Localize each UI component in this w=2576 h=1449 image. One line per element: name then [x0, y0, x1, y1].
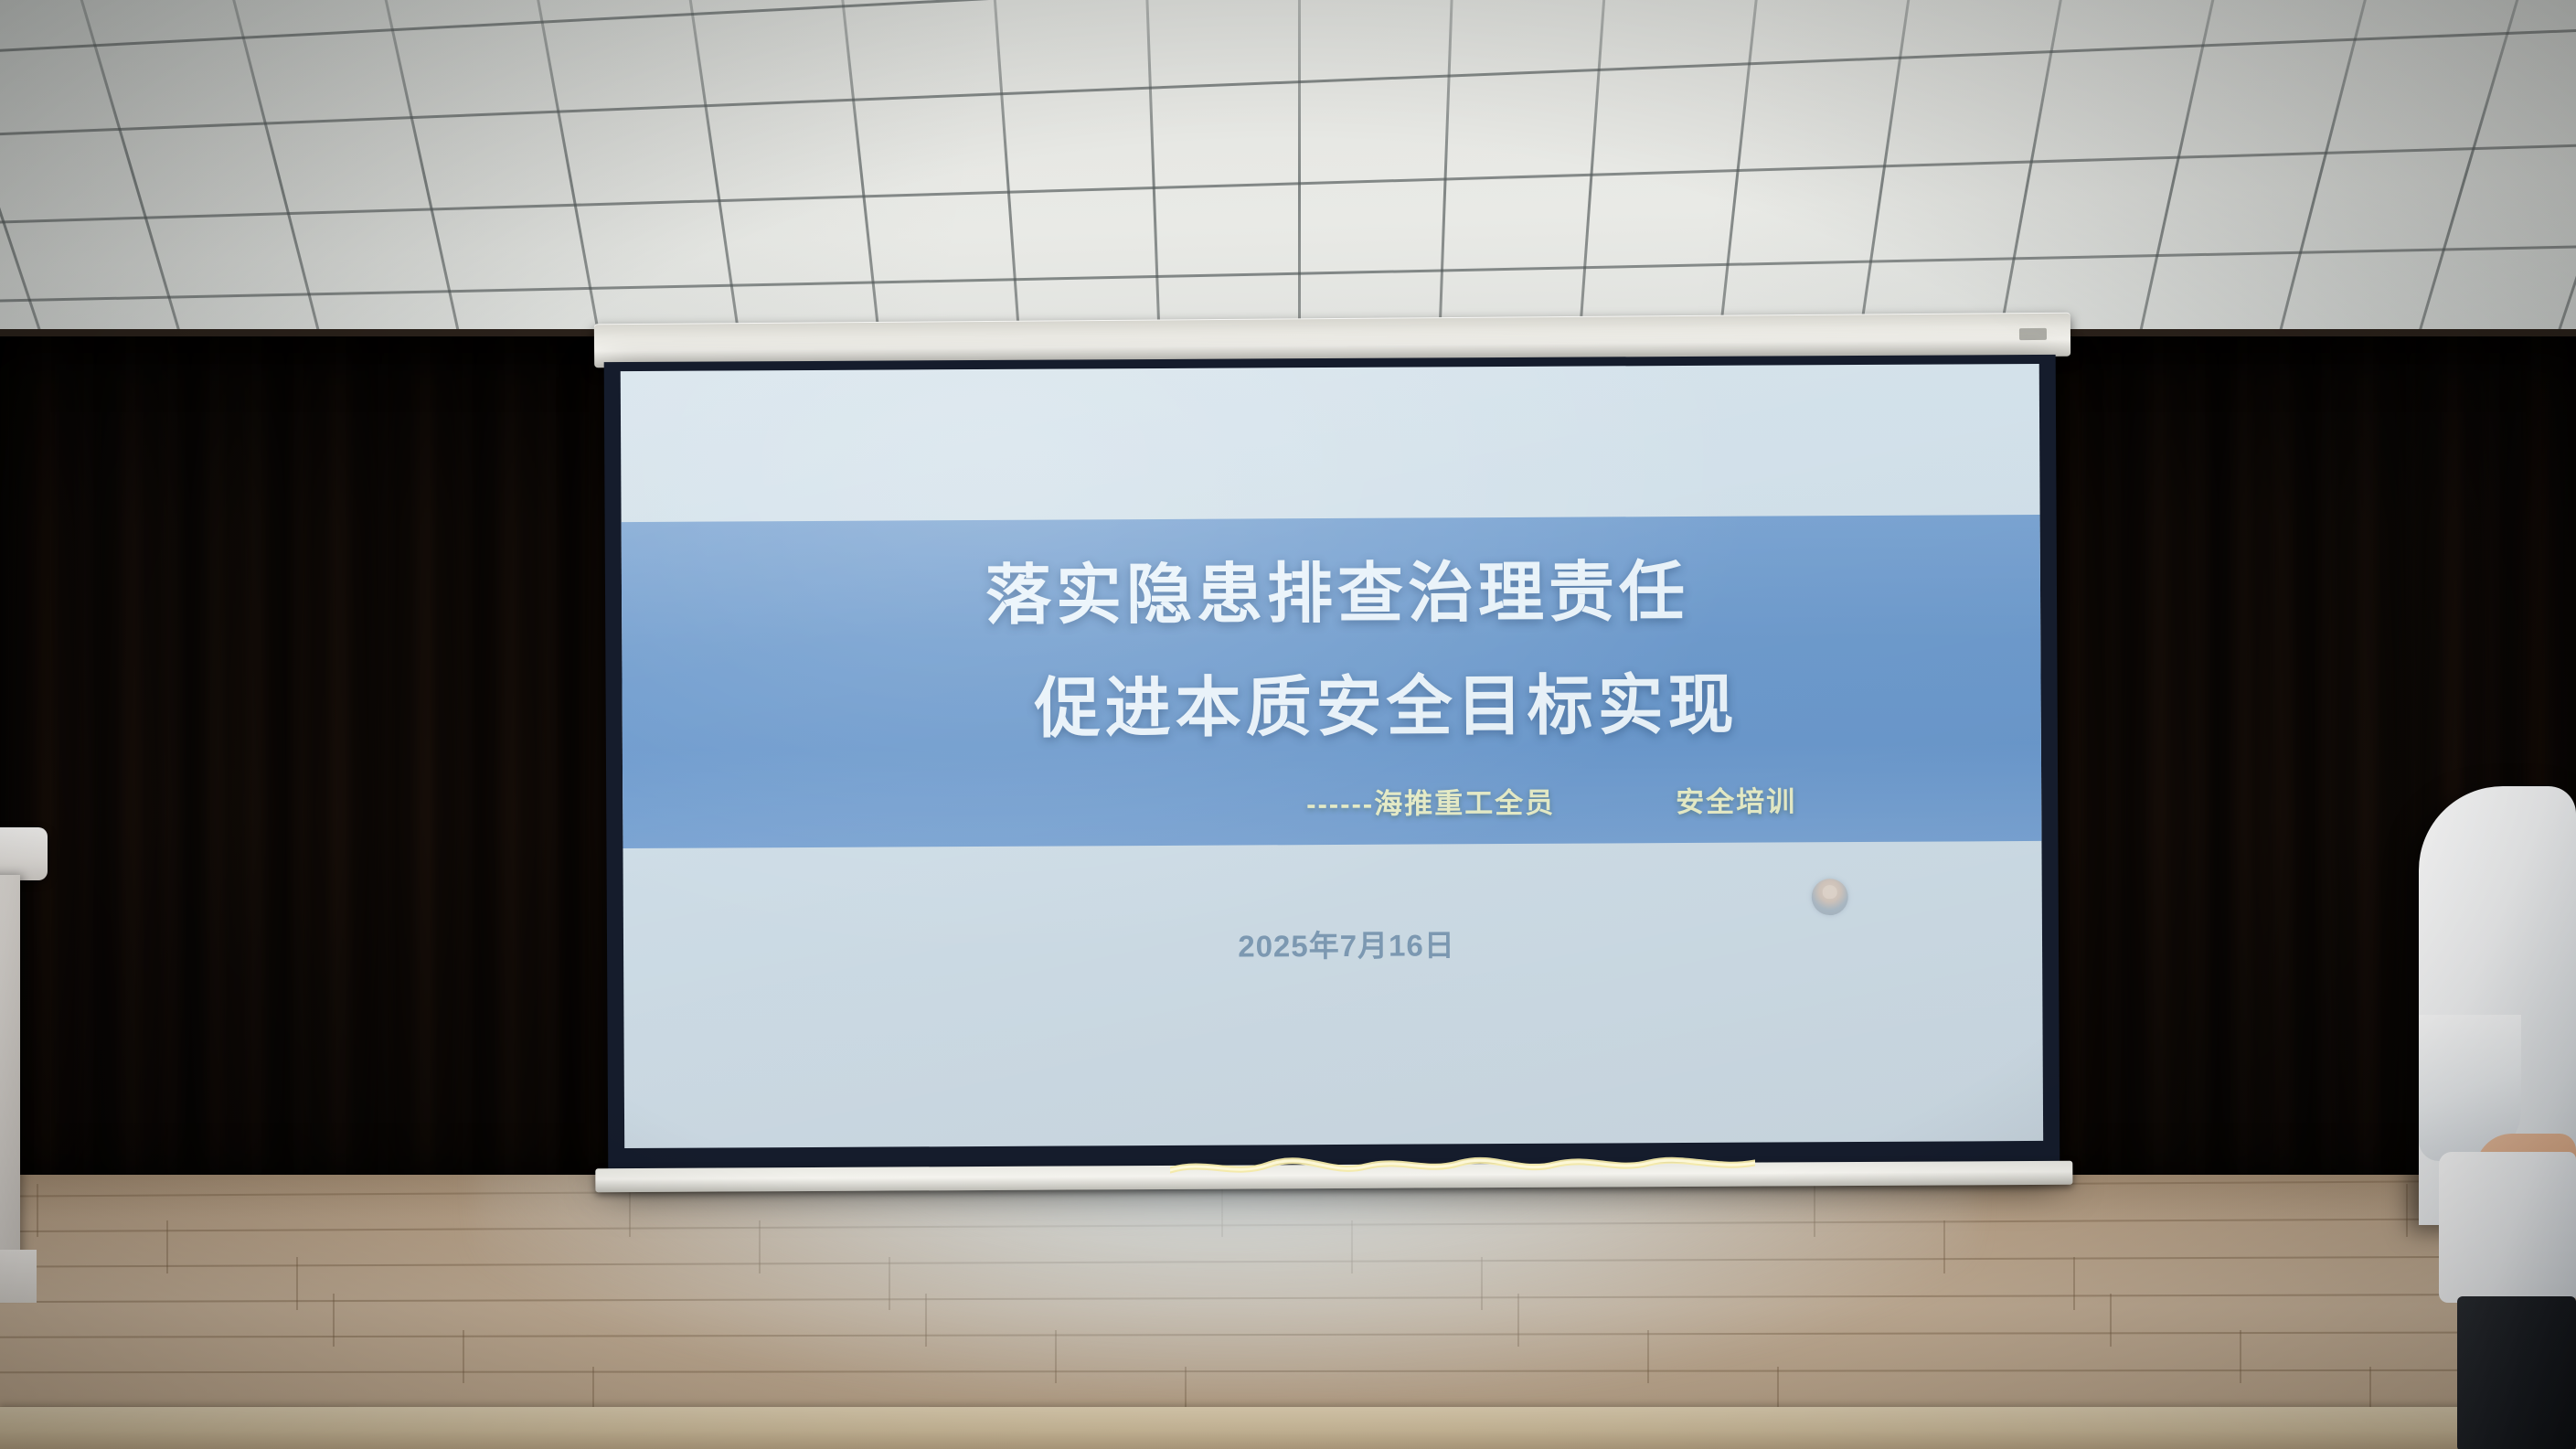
- suspended-tile-ceiling: [0, 0, 2576, 357]
- slide-title-line-1: 落实隐患排查治理责任: [622, 536, 2041, 639]
- room-scene: 落实隐患排查治理责任 促进本质安全目标实现 ------海推重工全员 安全培训 …: [0, 0, 2576, 1449]
- slide-author-topic: 安全培训: [1676, 778, 1796, 820]
- stage-curtain-left: [0, 336, 640, 1205]
- standing-attendee: [2402, 786, 2576, 1449]
- curtain-fold-sheen: [0, 336, 640, 1205]
- presentation-slide: 落实隐患排查治理责任 促进本质安全目标实现 ------海推重工全员 安全培训 …: [621, 364, 2043, 1148]
- housing-brand-label: [2019, 328, 2047, 340]
- lectern-top: [0, 827, 48, 880]
- floor-plank-seam: [296, 1257, 298, 1310]
- floor-plank-seam: [2110, 1294, 2112, 1347]
- ceiling-grid-line-v: [1298, 0, 1301, 357]
- ceiling-shading: [0, 0, 2576, 357]
- slide-author-row: ------海推重工全员 安全培训: [623, 777, 2041, 826]
- slide-title-line-2: 促进本质安全目标实现: [622, 649, 2041, 752]
- lectern[interactable]: [0, 827, 48, 1303]
- floor-plank-seam: [333, 1294, 335, 1347]
- floor-plank-seam: [166, 1220, 168, 1273]
- wood-laminate-floor: [0, 1175, 2576, 1449]
- projector-light-spill: [475, 1175, 1975, 1389]
- projection-screen-surface: 落实隐患排查治理责任 促进本质安全目标实现 ------海推重工全员 安全培训 …: [621, 364, 2043, 1148]
- projection-screen[interactable]: 落实隐患排查治理责任 促进本质安全目标实现 ------海推重工全员 安全培训 …: [604, 355, 2060, 1176]
- string-lights-under-screen: [1170, 1146, 1755, 1187]
- presenter-avatar-watermark: [1812, 879, 1848, 915]
- lectern-body: [0, 875, 20, 1259]
- person-shirt-lower: [2439, 1152, 2576, 1303]
- slide-date: 2025年7月16日: [623, 918, 2042, 969]
- string-lights-svg: [1170, 1146, 1755, 1187]
- floor-plank-seam: [2073, 1257, 2075, 1310]
- slide-author-prefix: ------海推重工全员: [1306, 780, 1555, 822]
- floor-plank-seam: [2240, 1330, 2241, 1383]
- floor-plank-seam: [463, 1330, 464, 1383]
- person-trousers: [2457, 1296, 2576, 1449]
- lectern-base: [0, 1250, 37, 1303]
- floor-edge-strip: [0, 1407, 2576, 1449]
